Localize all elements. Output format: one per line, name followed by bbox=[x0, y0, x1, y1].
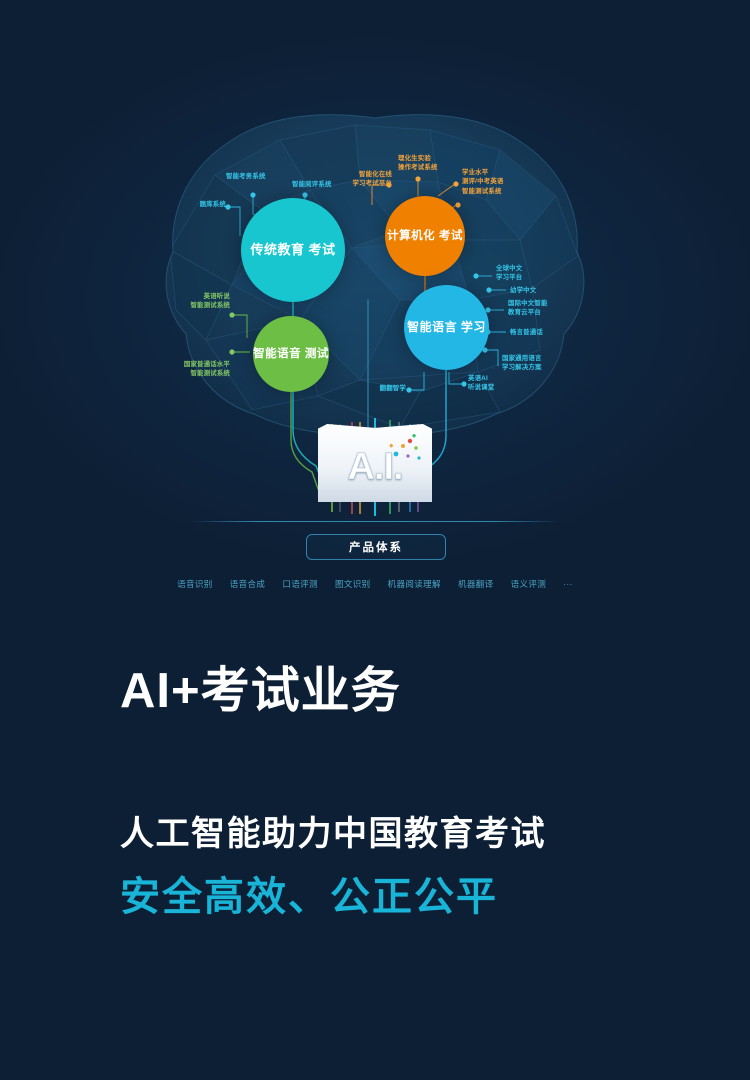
bubble-smart-voice-test-label: 智能语音 测试 bbox=[253, 347, 329, 361]
label-fanfan-zhixue: 翻翻智学 bbox=[372, 384, 406, 393]
confetti-icon bbox=[386, 432, 426, 466]
label-academic-level-english-test: 学业水平 测评/中考英语 智能测试系统 bbox=[462, 168, 524, 196]
subtitle-primary: 人工智能助力中国教育考试 bbox=[120, 815, 680, 854]
bubble-traditional-exam[interactable]: 传统教育 考试 bbox=[241, 198, 345, 302]
bubble-computerized-exam-label: 计算机化 考试 bbox=[387, 229, 463, 243]
label-youxue-chinese: 幼学中文 bbox=[510, 286, 556, 295]
hero-baseline-divider bbox=[190, 521, 560, 522]
bubble-smart-voice-test[interactable]: 智能语音 测试 bbox=[253, 316, 329, 392]
tag-machine-reading-comprehension[interactable]: 机器阅读理解 bbox=[388, 578, 441, 590]
bubble-smart-language-learning[interactable]: 智能语言 学习 bbox=[404, 285, 489, 370]
bubble-smart-language-learning-label: 智能语言 学习 bbox=[407, 320, 486, 335]
label-global-chinese-platform: 全球中文 学习平台 bbox=[496, 264, 542, 283]
label-english-ai-classroom: 英语AI 听说课堂 bbox=[468, 374, 510, 393]
bubble-computerized-exam[interactable]: 计算机化 考试 bbox=[385, 196, 465, 276]
tag-image-text-recognition[interactable]: 图文识别 bbox=[335, 578, 371, 590]
page-title: AI+考试业务 bbox=[120, 665, 680, 719]
subtitle-accent: 安全高效、公正公平 bbox=[120, 874, 680, 920]
label-online-learning-exam-platform: 智能化在线 学习考试平台 bbox=[336, 170, 392, 189]
brain-graphic bbox=[0, 0, 750, 620]
label-smart-exam-affairs: 智能考务系统 bbox=[226, 172, 282, 181]
hero-illustration: 传统教育 考试 计算机化 考试 智能语言 学习 智能语音 测试 题库系统 智能考… bbox=[0, 0, 750, 620]
label-putonghua-level-test: 国家普通话水平 智能测试系统 bbox=[168, 360, 230, 379]
label-intl-chinese-cloud: 国际中文智能 教育云平台 bbox=[508, 299, 562, 318]
tag-speech-synthesis[interactable]: 语音合成 bbox=[230, 578, 266, 590]
label-english-listening-speaking-test: 英语听说 智能测试系统 bbox=[176, 292, 230, 311]
label-tiku-system: 题库系统 bbox=[196, 200, 226, 209]
label-changyan-putonghua: 畅言普通话 bbox=[510, 328, 560, 337]
copy-block: AI+考试业务 人工智能助力中国教育考试 安全高效、公正公平 bbox=[120, 665, 680, 920]
tag-machine-translation[interactable]: 机器翻译 bbox=[458, 578, 494, 590]
tag-oral-evaluation[interactable]: 口语评测 bbox=[282, 578, 318, 590]
label-lab-operation-exam: 理化生实验 操作考试系统 bbox=[398, 154, 456, 173]
poster-background: 传统教育 考试 计算机化 考试 智能语言 学习 智能语音 测试 题库系统 智能考… bbox=[0, 0, 750, 1080]
tag-speech-recognition[interactable]: 语音识别 bbox=[177, 578, 213, 590]
label-national-language-solution: 国家通用语言 学习解决方案 bbox=[502, 354, 558, 373]
capability-tag-list: 语音识别 语音合成 口语评测 图文识别 机器阅读理解 机器翻译 语义评测 ··· bbox=[0, 578, 750, 590]
product-system-badge[interactable]: 产品体系 bbox=[306, 534, 446, 560]
bubble-traditional-exam-label: 传统教育 考试 bbox=[250, 242, 335, 258]
tag-more-ellipsis: ··· bbox=[563, 579, 573, 589]
tag-semantic-evaluation[interactable]: 语义评测 bbox=[511, 578, 547, 590]
